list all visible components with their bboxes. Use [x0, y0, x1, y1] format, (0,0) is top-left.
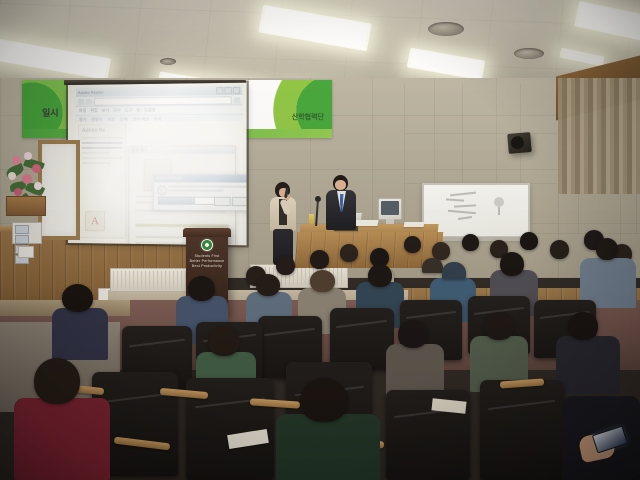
seat-side: [474, 378, 481, 474]
auditorium-seat[interactable]: [480, 380, 564, 480]
conference-hall-photo: 2 … 술대회 일시 산학협력단 Adobe Reader 파일 편집 보기 문…: [0, 0, 640, 480]
seat-seam: [264, 328, 315, 336]
podium-slogan: Students First Better Performance Best P…: [189, 254, 225, 269]
audience-torso: [556, 336, 620, 394]
audience-head: [398, 320, 428, 348]
monitor-screen: [381, 201, 399, 215]
light-switch-plate[interactable]: [18, 246, 34, 258]
audience-torso: [276, 414, 380, 480]
audience-head: [340, 244, 358, 262]
university-seal-icon: [201, 239, 213, 251]
audience-head: [568, 312, 598, 340]
wall-speaker-icon: [507, 132, 532, 154]
auditorium-seat[interactable]: [330, 308, 394, 370]
host-face: [335, 180, 346, 190]
flower-planter-box: [6, 196, 46, 216]
audience-head: [310, 250, 329, 269]
audience-head: [404, 236, 421, 253]
audience-torso: [52, 308, 108, 360]
beverage-bottle: [309, 214, 314, 224]
control-switch[interactable]: [15, 235, 29, 244]
seat-seam: [406, 311, 455, 319]
seat-seam: [129, 338, 185, 347]
audience-head: [550, 240, 569, 259]
ceiling-speaker: [160, 58, 176, 65]
papers-on-table: [404, 222, 425, 227]
seat-headrest: [281, 358, 377, 380]
monitor-stand: [386, 219, 394, 224]
audience-head: [300, 378, 348, 422]
presenter-female: [266, 182, 300, 266]
audience-head: [520, 232, 538, 250]
podium-top: [183, 228, 231, 237]
audience-head: [188, 276, 215, 301]
control-switch[interactable]: [15, 225, 29, 234]
wall-control-panel[interactable]: [12, 222, 42, 244]
ceiling-vent-2: [514, 48, 544, 59]
baseboard-heater-left: [110, 268, 198, 292]
audience-head: [256, 274, 280, 296]
audience-head: [276, 256, 295, 275]
seat-seam: [336, 320, 387, 328]
audience-torso: [14, 398, 110, 480]
audience-head: [500, 252, 524, 276]
window-curtain: [558, 78, 640, 194]
audience-head: [596, 238, 618, 260]
audience-head: [310, 270, 335, 292]
seat-headrest: [117, 322, 197, 344]
audience-head: [62, 284, 93, 312]
seat-headrest: [87, 368, 183, 390]
ceiling-vent-1: [428, 22, 464, 36]
seat-side: [469, 388, 476, 474]
desktop-monitor: [378, 198, 402, 220]
seat-side: [380, 388, 387, 474]
audience-head-with-cap: [442, 262, 466, 279]
audience-head: [368, 264, 392, 287]
podium-slogan-line-3: Best Productivity: [189, 264, 225, 269]
audience-head: [484, 312, 514, 340]
host-male: [324, 175, 358, 233]
seat-seam: [101, 393, 170, 403]
projection-screen-border: [66, 81, 249, 248]
seat-seam: [489, 400, 556, 410]
audience-head: [34, 358, 80, 404]
audience-head-with-cap: [422, 258, 443, 273]
audience-head: [462, 234, 479, 251]
audience-head: [208, 326, 240, 356]
whiteboard: [422, 183, 530, 238]
